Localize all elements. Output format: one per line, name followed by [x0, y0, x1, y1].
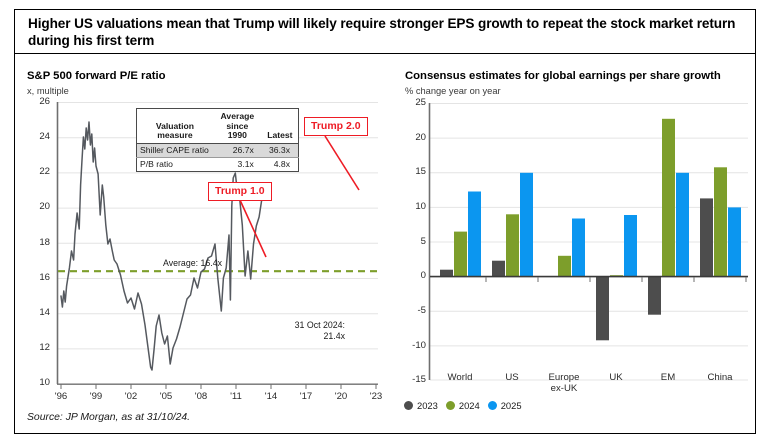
bar-em-2025	[676, 173, 689, 277]
right-xtick-us: US	[486, 372, 538, 383]
right-xtick-europe: Europeex-UK	[538, 372, 590, 394]
bar-europe-2024	[558, 256, 571, 277]
right-ytick-10: 10	[398, 201, 426, 212]
right-ytick-neg10: -10	[398, 340, 426, 351]
right-ytick-25: 25	[398, 97, 426, 108]
legend-dot-icon	[404, 401, 413, 410]
bar-em-2024	[662, 119, 675, 277]
right-ytick-0: 0	[398, 270, 426, 281]
bar-us-2023	[492, 261, 505, 277]
legend-item-2023: 2023	[404, 400, 438, 411]
right-xtick-uk: UK	[590, 372, 642, 383]
legend-item-2025: 2025	[488, 400, 522, 411]
bar-us-2025	[520, 173, 533, 277]
legend-dot-icon	[488, 401, 497, 410]
right-xtick-world: World	[434, 372, 486, 383]
right-ytick-neg15: -15	[398, 374, 426, 385]
right-ytick-20: 20	[398, 132, 426, 143]
bar-china-2025	[728, 207, 741, 276]
bar-uk-2023	[596, 277, 609, 341]
right-chart-legend: 2023 2024 2025	[404, 400, 522, 411]
bar-world-2023	[440, 270, 453, 277]
right-ytick-5: 5	[398, 236, 426, 247]
bar-china-2023	[700, 198, 713, 276]
bar-uk-2025	[624, 215, 637, 277]
right-xtick-em: EM	[642, 372, 694, 383]
legend-dot-icon	[446, 401, 455, 410]
right-x-ticks	[486, 277, 746, 282]
legend-item-2024: 2024	[446, 400, 480, 411]
legend-label-2025: 2025	[501, 400, 522, 411]
legend-label-2024: 2024	[459, 400, 480, 411]
right-ytick-15: 15	[398, 166, 426, 177]
bar-europe-2025	[572, 219, 585, 277]
right-ytick-neg5: -5	[398, 305, 426, 316]
source-note: Source: JP Morgan, as at 31/10/24.	[27, 412, 190, 423]
slide-root: Higher US valuations mean that Trump wil…	[0, 0, 770, 447]
bar-china-2024	[714, 167, 727, 276]
bar-world-2025	[468, 192, 481, 277]
right-xtick-china: China	[694, 372, 746, 383]
bar-us-2024	[506, 214, 519, 276]
legend-label-2023: 2023	[417, 400, 438, 411]
bar-world-2024	[454, 232, 467, 277]
bar-em-2023	[648, 277, 661, 315]
